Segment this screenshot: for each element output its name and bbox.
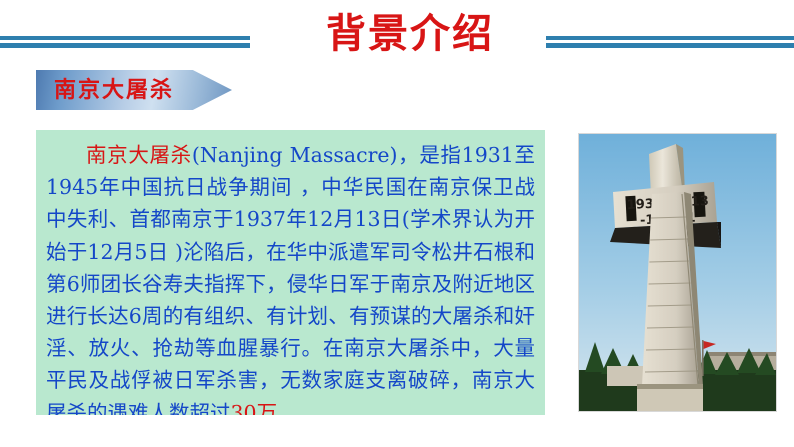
memorial-monument-photo: 1937.12.13 -1938.1 (578, 133, 777, 412)
page-title: 背景介绍 (300, 8, 520, 60)
body-paragraph: 南京大屠杀(Nanjing Massacre)，是指1931至1945年中国抗日… (46, 139, 535, 415)
rule-bar-top (0, 36, 250, 40)
highlighted-text: 30万 (231, 401, 278, 415)
body-text-run: 。 (277, 401, 298, 415)
rule-bar-bottom (546, 43, 794, 48)
section-banner: 南京大屠杀 (36, 70, 232, 110)
rule-bar-bottom (0, 43, 250, 48)
rule-bar-top (546, 36, 794, 40)
body-text-run: (Nanjing Massacre)，是指1931至1945年中国抗日战争期间 … (46, 143, 535, 415)
highlighted-text: 南京大屠杀 (86, 143, 192, 167)
monument-illustration: 1937.12.13 -1938.1 (579, 134, 776, 411)
header-rule-right (546, 36, 794, 48)
content-text-box: 南京大屠杀(Nanjing Massacre)，是指1931至1945年中国抗日… (36, 130, 545, 415)
header-rule-left (0, 36, 250, 48)
banner-label: 南京大屠杀 (54, 70, 174, 110)
